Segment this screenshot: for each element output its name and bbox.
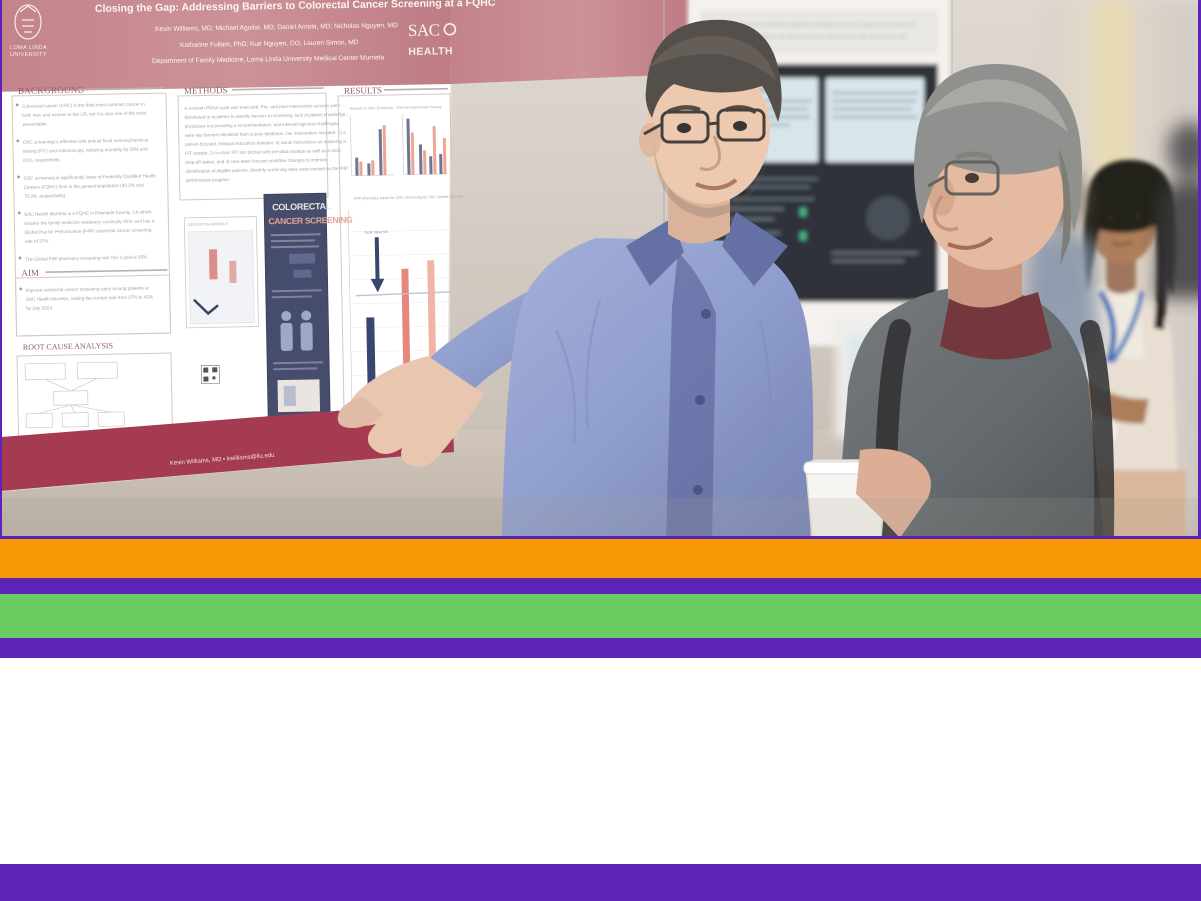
purple-stripe-footer	[0, 864, 1201, 901]
headline-panel: Call for Presentations	[0, 658, 1201, 864]
left-page-edge	[0, 0, 2, 539]
purple-stripe-lower	[0, 638, 1201, 658]
conference-photo: LOMA LINDA UNIVERSITY Closing the Gap: A…	[0, 0, 1201, 537]
purple-stripe-upper	[0, 578, 1201, 594]
orange-stripe	[0, 539, 1201, 578]
photo-illustration: LOMA LINDA UNIVERSITY Closing the Gap: A…	[0, 0, 1201, 537]
green-stripe	[0, 594, 1201, 638]
call-for-presentations-flyer: LOMA LINDA UNIVERSITY Closing the Gap: A…	[0, 0, 1201, 901]
